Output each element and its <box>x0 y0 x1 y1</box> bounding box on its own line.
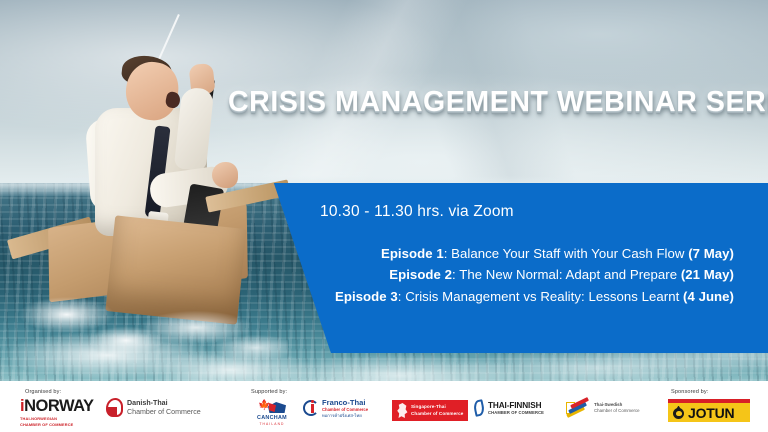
episode-list: Episode 1: Balance Your Staff with Your … <box>316 243 754 307</box>
inorway-wordmark: iNORWAY <box>20 398 94 415</box>
danish-thai-line1: Danish-Thai <box>127 399 201 408</box>
thai-finnish-text: THAI-FINNISH CHAMBER OF COMMERCE <box>488 401 544 416</box>
episode-topic: The New Normal: Adapt and Prepare <box>459 267 681 282</box>
details-panel: 10.30 - 11.30 hrs. via Zoom Episode 1: B… <box>258 183 768 353</box>
shouting-mouth <box>164 91 181 110</box>
franco-thai-line3: หอการค้าฝรั่งเศส-ไทย <box>322 413 368 418</box>
cancham-line2: THAILAND <box>249 422 295 426</box>
thai-swedish-stripes-icon <box>566 399 590 416</box>
episode-label: Episode 2 <box>389 267 452 282</box>
jotun-logo: JOTUN <box>668 399 750 422</box>
inorway-name: NORWAY <box>24 397 93 415</box>
thai-swedish-logo: Thai-Swedish Chamber of Commerce <box>566 399 640 416</box>
danish-thai-logo: Danish-Thai Chamber of Commerce <box>106 398 201 417</box>
thai-finnish-swirl-icon <box>472 400 485 416</box>
episode-date: (4 June) <box>683 289 734 304</box>
jotun-emblem-icon <box>672 406 685 420</box>
franco-thai-text: Franco-Thai Chamber of Commerce หอการค้า… <box>322 398 368 418</box>
thai-swedish-text: Thai-Swedish Chamber of Commerce <box>594 402 640 414</box>
webinar-poster: CRISIS MANAGEMENT WEBINAR SERIES 10.30 -… <box>0 0 768 432</box>
inorway-logo: iNORWAY THAI-NORWEGIAN CHAMBER OF COMMER… <box>20 398 94 428</box>
session-time: 10.30 - 11.30 hrs. via Zoom <box>320 203 754 221</box>
cancham-line1: CANCHAM <box>249 415 295 422</box>
danish-thai-mark-icon <box>106 398 123 417</box>
singapore-thai-line2: Chamber of Commerce <box>411 411 463 418</box>
thai-swedish-line2: Chamber of Commerce <box>594 408 640 414</box>
episode-topic: Balance Your Staff with Your Cash Flow <box>451 246 688 261</box>
supported-by-label: Supported by: <box>251 389 287 395</box>
hand-lower <box>212 162 238 188</box>
danish-thai-text: Danish-Thai Chamber of Commerce <box>127 399 201 417</box>
episode-item: Episode 1: Balance Your Staff with Your … <box>316 243 734 264</box>
episode-topic: Crisis Management vs Reality: Lessons Le… <box>405 289 683 304</box>
franco-thai-line2: Chamber of Commerce <box>322 407 368 412</box>
franco-thai-c-icon <box>303 400 319 416</box>
episode-item: Episode 3: Crisis Management vs Reality:… <box>316 286 734 307</box>
franco-thai-line1: Franco-Thai <box>322 398 368 407</box>
singapore-thai-logo: Singapore-Thai Chamber of Commerce <box>392 400 468 421</box>
episode-label: Episode 1 <box>381 246 444 261</box>
thai-finnish-line2: CHAMBER OF COMMERCE <box>488 410 544 415</box>
singapore-thai-lion-icon <box>397 403 408 418</box>
danish-thai-line2: Chamber of Commerce <box>127 408 201 417</box>
organised-by-label: Organised by: <box>25 389 61 395</box>
thai-finnish-line1: THAI-FINNISH <box>488 401 544 410</box>
episode-date: (21 May) <box>681 267 734 282</box>
episode-label: Episode 3 <box>335 289 398 304</box>
page-title: CRISIS MANAGEMENT WEBINAR SERIES <box>228 86 758 119</box>
cancham-logo: 🍁 CANCHAM THAILAND <box>249 400 295 426</box>
franco-thai-logo: Franco-Thai Chamber of Commerce หอการค้า… <box>303 398 368 418</box>
inorway-subtitle-line2: CHAMBER OF COMMERCE <box>20 422 94 428</box>
singapore-thai-line1: Singapore-Thai <box>411 404 463 411</box>
details-panel-inner: 10.30 - 11.30 hrs. via Zoom Episode 1: B… <box>258 183 768 353</box>
episode-item: Episode 2: The New Normal: Adapt and Pre… <box>316 264 734 285</box>
cancham-maple-leaf-icon: 🍁 <box>255 400 289 415</box>
episode-date: (7 May) <box>688 246 734 261</box>
thai-finnish-logo: THAI-FINNISH CHAMBER OF COMMERCE <box>472 400 544 416</box>
water-splash <box>18 276 288 368</box>
inorway-subtitle-line1: THAI-NORWEGIAN <box>20 416 94 422</box>
sponsored-by-label: Sponsored by: <box>671 389 708 395</box>
singapore-thai-text: Singapore-Thai Chamber of Commerce <box>411 404 463 417</box>
jotun-wordmark: JOTUN <box>688 406 734 420</box>
